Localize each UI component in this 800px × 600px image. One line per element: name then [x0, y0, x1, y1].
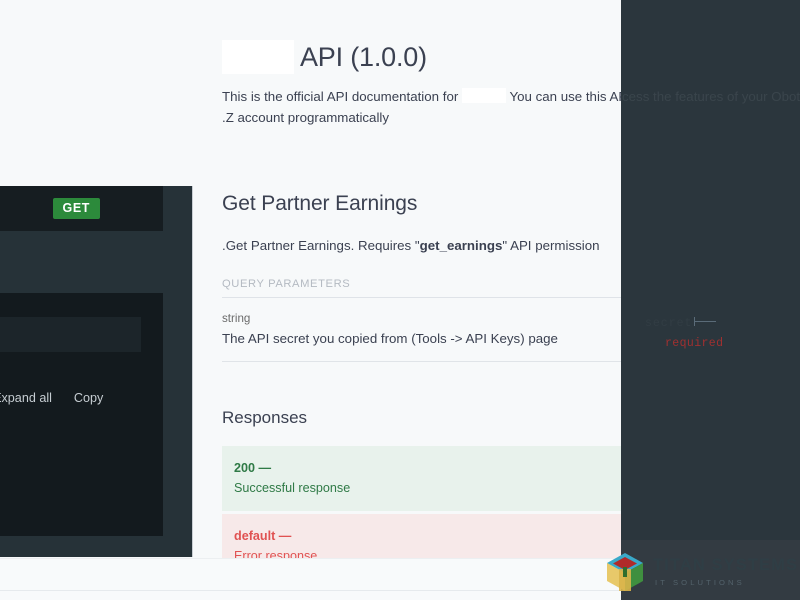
code-sample-block [0, 317, 141, 352]
code-sample-actions: e all Expand all Copy [0, 391, 163, 405]
parameter-name-occluded: secret [645, 317, 692, 330]
operation-description: .Get Partner Earnings. Requires "get_ear… [222, 236, 600, 256]
code-sample-panel-header: GET [0, 186, 163, 231]
redacted-brand-box [222, 40, 294, 74]
required-connector-line [694, 321, 716, 322]
footer-divider [0, 590, 621, 591]
copy-button[interactable]: Copy [74, 391, 103, 405]
code-sample-body: e all Expand all Copy [0, 293, 163, 536]
occluded-description-text: cess the features of your Obot [622, 86, 800, 107]
code-sample-panel: GET e all Expand all Copy [0, 186, 193, 557]
parameter-required-marker: secret required [645, 313, 765, 350]
page-title: API (1.0.0) [300, 40, 427, 74]
api-description-part3: .Z account programmatically [222, 110, 389, 125]
api-description-part1: This is the official API documentation f… [222, 89, 458, 104]
page-root: API (1.0.0) This is the official API doc… [0, 0, 800, 600]
operation-title: Get Partner Earnings [222, 192, 417, 216]
expand-all-button[interactable]: Expand all [0, 391, 52, 405]
operation-description-prefix: .Get Partner Earnings. Requires " [222, 238, 420, 253]
footer-strip [0, 558, 621, 600]
redacted-brand-inline [462, 88, 506, 103]
http-method-badge-get[interactable]: GET [53, 198, 101, 219]
responses-section-title: Responses [222, 408, 307, 428]
operation-permission-code: get_earnings [420, 238, 503, 253]
api-title-row: API (1.0.0) [222, 38, 427, 76]
dark-overlay-bottom-region [621, 540, 800, 600]
required-label: required [665, 337, 765, 350]
operation-description-suffix: " API permission [502, 238, 599, 253]
